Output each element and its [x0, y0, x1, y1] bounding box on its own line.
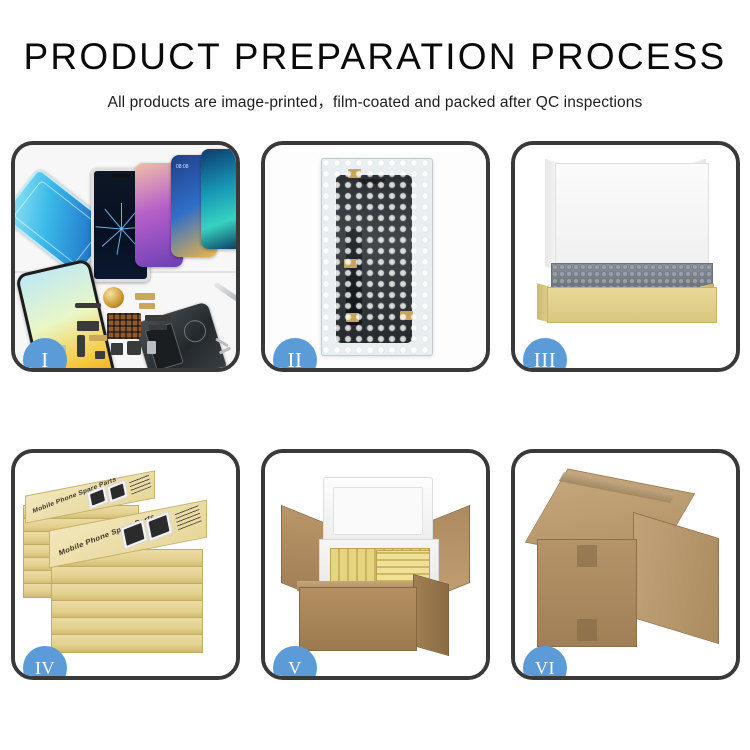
process-step-grid: 08:08 I — [11, 141, 740, 680]
page-subtitle: All products are image-printed，film-coat… — [0, 90, 750, 112]
phone-teal-wave — [201, 149, 236, 249]
step-1-illustration: 08:08 — [15, 145, 236, 368]
step-3-illustration — [515, 145, 736, 368]
step-2-illustration — [265, 145, 486, 368]
step-6-illustration — [515, 453, 736, 676]
page-header: PRODUCT PREPARATION PROCESS All products… — [0, 0, 750, 112]
page-title: PRODUCT PREPARATION PROCESS — [0, 36, 750, 79]
process-step-panel-1[interactable]: 08:08 I — [11, 141, 240, 372]
foam-box-lid — [323, 477, 433, 545]
step-5-illustration — [265, 453, 486, 676]
process-step-panel-3[interactable]: III — [511, 141, 740, 372]
wrapped-flex-cable — [346, 229, 362, 325]
speaker-component — [103, 287, 124, 308]
process-step-panel-5[interactable]: V — [261, 449, 490, 680]
phone-clock-label: 08:08 — [176, 164, 189, 170]
process-step-panel-2[interactable]: II — [261, 141, 490, 372]
carton-front-panel — [299, 587, 417, 651]
process-step-panel-6[interactable]: VI — [511, 449, 740, 680]
box-lid-open — [555, 163, 709, 277]
step-4-illustration: Mobile Phone Spare Parts Mobile Phone Sp… — [15, 453, 236, 676]
process-step-panel-4[interactable]: Mobile Phone Spare Parts Mobile Phone Sp… — [11, 449, 240, 680]
chip-array-component — [107, 313, 141, 339]
box-front-panel — [547, 287, 717, 323]
bubble-wrap-bag — [321, 158, 433, 356]
